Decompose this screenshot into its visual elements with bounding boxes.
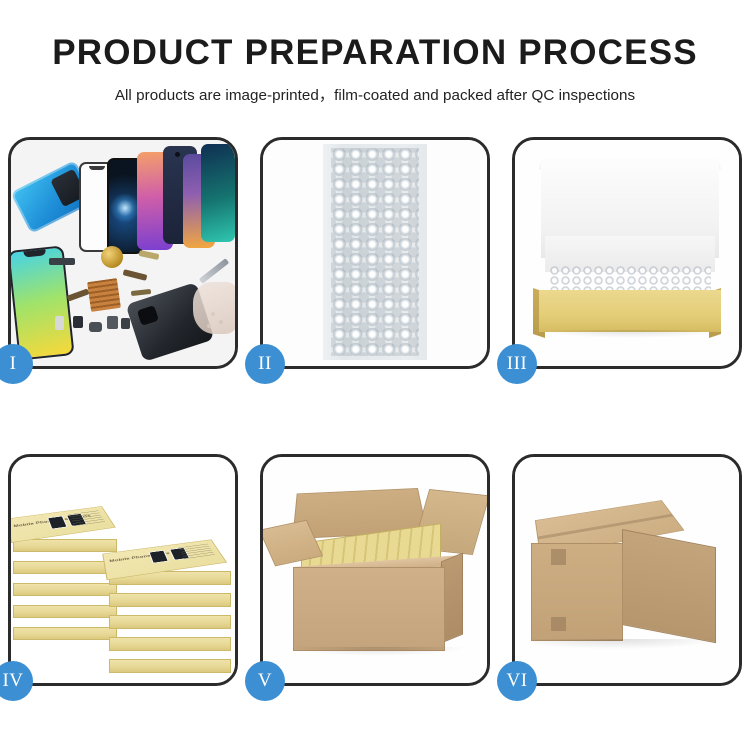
stacked-box-side bbox=[13, 605, 117, 618]
spare-part-icon bbox=[89, 322, 102, 332]
printed-box-lid: Mobile Phone Spare Parts bbox=[11, 506, 116, 543]
stacked-box-side bbox=[109, 615, 231, 629]
header: PRODUCT PREPARATION PROCESS All products… bbox=[0, 0, 750, 105]
page-title: PRODUCT PREPARATION PROCESS bbox=[0, 33, 750, 73]
step-badge-6: VI bbox=[497, 661, 537, 701]
inner-box-front-face bbox=[539, 290, 721, 332]
drop-shadow bbox=[533, 639, 719, 649]
process-steps-grid: I II III bbox=[8, 137, 742, 687]
spare-part-icon bbox=[121, 318, 130, 329]
hand-icon bbox=[193, 282, 235, 334]
stacked-box-side bbox=[13, 583, 117, 596]
step-badge-2: II bbox=[245, 344, 285, 384]
stacked-box-side bbox=[109, 637, 231, 651]
step-panel-6: VI bbox=[512, 454, 742, 686]
carton-tape-mark bbox=[551, 549, 566, 565]
page-subtitle: All products are image-printed，film-coat… bbox=[0, 83, 750, 105]
stacked-box-side bbox=[13, 627, 117, 640]
step-panel-1: I bbox=[8, 137, 238, 369]
stacked-box-side bbox=[13, 539, 117, 552]
battery-connector-icon bbox=[49, 258, 75, 265]
drop-shadow bbox=[539, 330, 723, 338]
sealed-carton-right-face bbox=[622, 529, 716, 643]
step-6-image bbox=[515, 457, 739, 683]
step-2-image bbox=[263, 140, 487, 366]
stacked-box-side bbox=[109, 659, 231, 673]
step-1-image bbox=[11, 140, 235, 366]
step-panel-2: II bbox=[260, 137, 490, 369]
carton-front-face bbox=[293, 567, 445, 651]
gold-coil-part-icon bbox=[101, 246, 123, 268]
box-spec-lines bbox=[179, 544, 216, 560]
step-badge-3: III bbox=[497, 344, 537, 384]
chip-pad-array-icon bbox=[87, 278, 121, 312]
step-panel-3: III bbox=[512, 137, 742, 369]
sealed-carton-front-face bbox=[531, 543, 623, 641]
box-spec-lines bbox=[69, 510, 106, 526]
spare-part-icon bbox=[55, 316, 64, 330]
spare-part-icon bbox=[73, 316, 83, 328]
step-badge-1: I bbox=[0, 344, 33, 384]
spare-part-icon bbox=[107, 316, 118, 329]
bubble-wrap-bubbles-icon bbox=[331, 148, 419, 356]
box-stack: Mobile Phone Spare Parts Mobile Phone Sp… bbox=[11, 475, 235, 681]
teal-phone-icon bbox=[201, 144, 235, 242]
step-4-image: Mobile Phone Spare Parts Mobile Phone Sp… bbox=[11, 457, 235, 683]
infographic-page: PRODUCT PREPARATION PROCESS All products… bbox=[0, 0, 750, 750]
step-5-image bbox=[263, 457, 487, 683]
step-badge-4: IV bbox=[0, 661, 33, 701]
step-panel-4: Mobile Phone Spare Parts Mobile Phone Sp… bbox=[8, 454, 238, 686]
step-panel-5: V bbox=[260, 454, 490, 686]
drop-shadow bbox=[289, 647, 467, 656]
step-3-image bbox=[515, 140, 739, 366]
stacked-box-side bbox=[109, 593, 231, 607]
step-badge-5: V bbox=[245, 661, 285, 701]
stacked-box-side bbox=[13, 561, 117, 574]
carton-tape-mark bbox=[551, 617, 566, 631]
